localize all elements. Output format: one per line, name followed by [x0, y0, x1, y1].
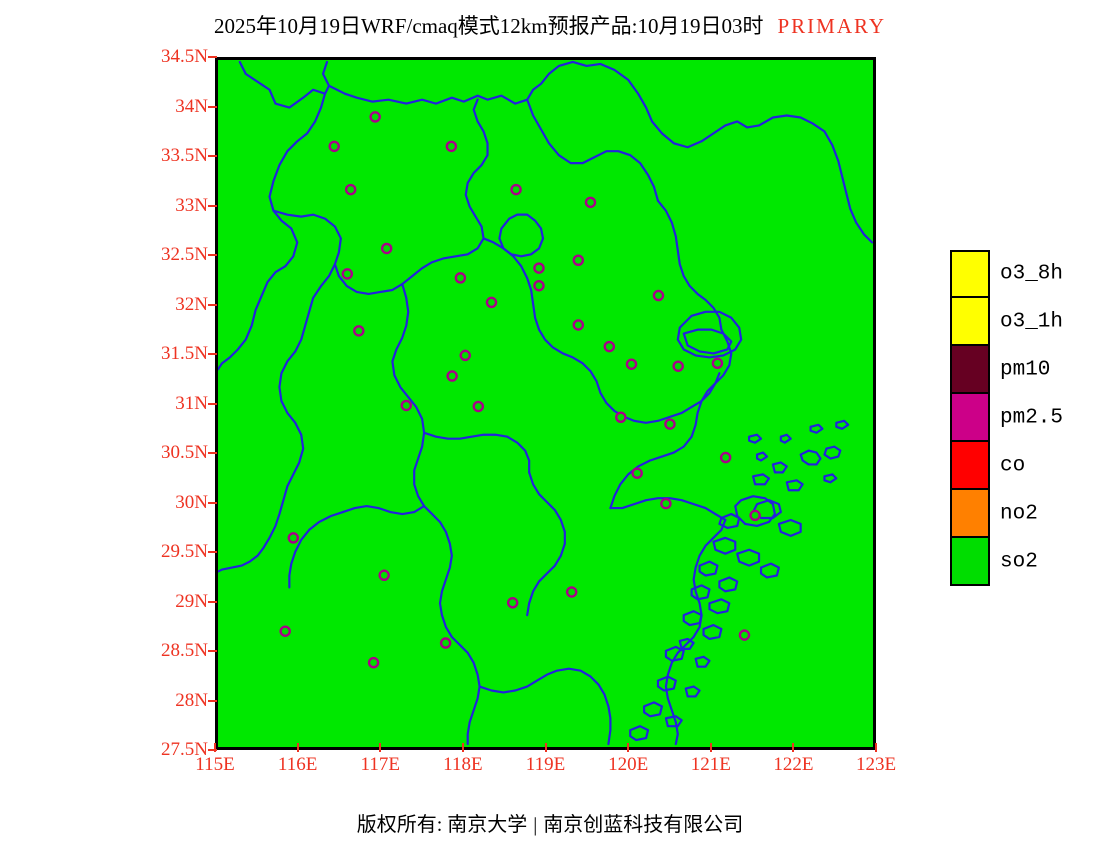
station-marker[interactable] — [508, 598, 517, 607]
y-tick-mark — [208, 106, 217, 108]
legend-label: o3_8h — [1000, 263, 1063, 286]
station-marker[interactable] — [441, 638, 450, 647]
y-tick-label: 32.5N — [161, 244, 208, 266]
x-axis: 115E116E117E118E119E120E121E122E123E — [215, 752, 876, 782]
station-marker[interactable] — [616, 413, 625, 422]
legend-label: no2 — [1000, 503, 1038, 526]
y-tick-mark — [208, 601, 217, 603]
y-tick-mark — [208, 304, 217, 306]
y-axis: 27.5N28N28.5N29N29.5N30N30.5N31N31.5N32N… — [140, 57, 208, 750]
x-tick-label: 120E — [608, 754, 648, 776]
station-marker[interactable] — [346, 185, 355, 194]
footer-copyright-text: 版权所有: 南京大学 — [357, 814, 528, 836]
legend-label: co — [1000, 455, 1025, 478]
station-marker[interactable] — [534, 264, 543, 273]
station-marker[interactable] — [574, 320, 583, 329]
title-primary-badge: PRIMARY — [777, 14, 886, 38]
y-tick-label: 30.5N — [161, 442, 208, 464]
station-marker[interactable] — [354, 326, 363, 335]
y-tick-label: 32N — [175, 294, 208, 316]
title-main-text: 2025年10月19日WRF/cmaq模式12km预报产品:10月19日03时 — [214, 14, 764, 38]
legend-swatch-co — [950, 442, 990, 490]
y-tick-label: 34N — [175, 96, 208, 118]
station-marker[interactable] — [665, 420, 674, 429]
y-tick-label: 29N — [175, 591, 208, 613]
station-marker[interactable] — [713, 359, 722, 368]
legend-label: o3_1h — [1000, 311, 1063, 334]
footer-company-text: 南京创蓝科技有限公司 — [543, 814, 743, 836]
legend-label: pm10 — [1000, 359, 1050, 382]
station-marker[interactable] — [448, 371, 457, 380]
y-tick-label: 33.5N — [161, 145, 208, 167]
station-marker[interactable] — [627, 360, 636, 369]
station-marker[interactable] — [281, 627, 290, 636]
x-tick-label: 119E — [526, 754, 565, 776]
station-marker[interactable] — [512, 185, 521, 194]
forecast-map-page: 2025年10月19日WRF/cmaq模式12km预报产品:10月19日03时P… — [0, 0, 1100, 850]
y-tick-label: 28N — [175, 690, 208, 712]
station-marker[interactable] — [371, 112, 380, 121]
x-tick-label: 117E — [361, 754, 400, 776]
x-tick-mark — [462, 743, 464, 752]
station-marker[interactable] — [751, 511, 760, 520]
station-marker[interactable] — [343, 269, 352, 278]
footer-separator: | — [533, 814, 537, 836]
x-tick-label: 121E — [691, 754, 731, 776]
station-marker[interactable] — [456, 273, 465, 282]
y-tick-mark — [208, 155, 217, 157]
station-marker[interactable] — [487, 298, 496, 307]
y-tick-label: 31.5N — [161, 343, 208, 365]
y-tick-label: 33N — [175, 195, 208, 217]
station-marker[interactable] — [474, 402, 483, 411]
map-field-fill — [218, 60, 873, 747]
x-tick-mark — [214, 743, 216, 752]
station-marker[interactable] — [289, 533, 298, 542]
x-tick-label: 122E — [773, 754, 813, 776]
station-marker[interactable] — [382, 244, 391, 253]
station-marker[interactable] — [654, 291, 663, 300]
y-tick-mark — [208, 551, 217, 553]
legend-swatch-o3-1h — [950, 298, 990, 346]
station-marker[interactable] — [402, 401, 411, 410]
y-tick-mark — [208, 452, 217, 454]
y-tick-label: 29.5N — [161, 541, 208, 563]
station-marker[interactable] — [369, 658, 378, 667]
x-tick-mark — [710, 743, 712, 752]
legend-label: so2 — [1000, 551, 1038, 574]
y-tick-mark — [208, 56, 217, 58]
legend-swatch-so2 — [950, 538, 990, 586]
legend-swatch-o3-8h — [950, 250, 990, 298]
station-marker[interactable] — [380, 571, 389, 580]
y-tick-mark — [208, 700, 217, 702]
x-tick-mark — [792, 743, 794, 752]
y-tick-label: 34.5N — [161, 46, 208, 68]
station-marker[interactable] — [534, 281, 543, 290]
x-tick-mark — [875, 743, 877, 752]
y-tick-mark — [208, 205, 217, 207]
page-title: 2025年10月19日WRF/cmaq模式12km预报产品:10月19日03时P… — [0, 10, 1100, 40]
x-tick-mark — [297, 743, 299, 752]
x-tick-label: 116E — [278, 754, 317, 776]
map-plot-area[interactable] — [215, 57, 876, 750]
station-marker[interactable] — [586, 198, 595, 207]
station-marker[interactable] — [605, 342, 614, 351]
y-tick-label: 30N — [175, 492, 208, 514]
y-tick-mark — [208, 403, 217, 405]
station-marker[interactable] — [674, 362, 683, 371]
y-tick-mark — [208, 353, 217, 355]
station-marker[interactable] — [721, 453, 730, 462]
footer-copyright: 版权所有: 南京大学|南京创蓝科技有限公司 — [0, 808, 1100, 837]
station-marker[interactable] — [574, 256, 583, 265]
station-marker[interactable] — [461, 351, 470, 360]
legend-swatch-pm2-5 — [950, 394, 990, 442]
legend-swatch-pm10 — [950, 346, 990, 394]
station-marker[interactable] — [633, 469, 642, 478]
station-marker[interactable] — [330, 142, 339, 151]
y-tick-mark — [208, 650, 217, 652]
x-tick-mark — [379, 743, 381, 752]
station-marker[interactable] — [447, 142, 456, 151]
x-tick-mark — [545, 743, 547, 752]
y-tick-label: 31N — [175, 393, 208, 415]
legend-swatch-no2 — [950, 490, 990, 538]
map-canvas — [218, 60, 873, 747]
y-tick-mark — [208, 254, 217, 256]
x-tick-label: 123E — [856, 754, 896, 776]
station-marker[interactable] — [567, 587, 576, 596]
x-tick-label: 118E — [443, 754, 482, 776]
legend-label: pm2.5 — [1000, 407, 1063, 430]
y-tick-mark — [208, 502, 217, 504]
x-tick-mark — [627, 743, 629, 752]
station-marker[interactable] — [661, 499, 670, 508]
x-tick-label: 115E — [195, 754, 234, 776]
y-tick-label: 28.5N — [161, 640, 208, 662]
station-marker[interactable] — [740, 631, 749, 640]
